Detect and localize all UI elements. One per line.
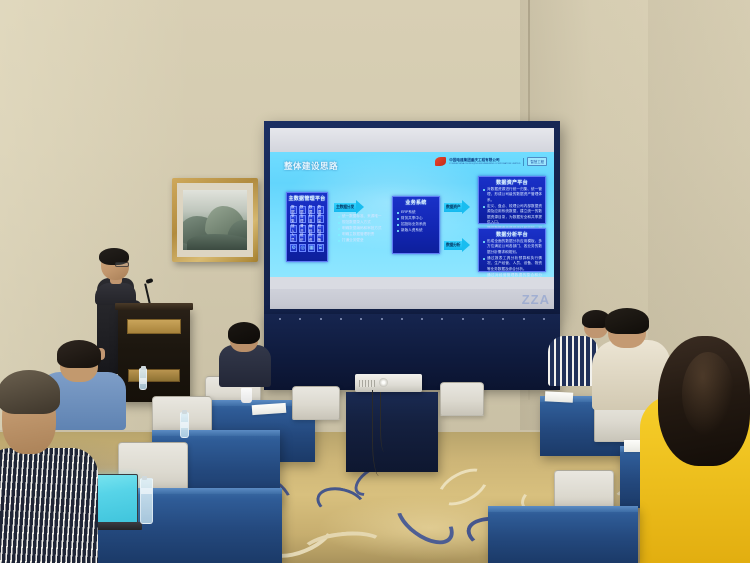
logo-company-name-en: POWERCHINA CHONGQING ENGINEERING CORPORA… <box>449 163 520 165</box>
database-icon: ⌸ <box>317 244 324 252</box>
audience-hair <box>605 308 649 334</box>
bottle-cap <box>182 410 187 414</box>
audience-torso <box>0 448 98 563</box>
logo-badge: 智慧工程 <box>527 157 547 166</box>
arrow-label: 主数据分发 <box>334 203 356 212</box>
business-systems-list: ERP系统 财务共享中心 招投标业务系统 新版人资系统 <box>393 207 439 233</box>
screen-watermark: ZZA <box>522 292 550 307</box>
bottle-cap <box>142 476 147 480</box>
framed-painting <box>172 178 258 262</box>
skirt-grommets <box>264 318 560 321</box>
gear-icon: ⚙ <box>290 244 297 252</box>
master-data-platform-box: 主数据管理平台 数据 数据 数据 数据 采集 治理 标准 质量 接入 清洗 编码… <box>286 192 328 262</box>
md-cell: 清洗 <box>299 225 306 233</box>
list-item: 打通业务壁垒 <box>338 238 385 243</box>
table-top <box>488 506 638 512</box>
arrow-head-icon <box>462 200 470 214</box>
md-cell: 数据 <box>317 206 324 214</box>
bottle-label <box>140 378 146 384</box>
list-item: 形成全面的数据分析应用模板，多方位满足公司各部门、各业务的数据分析需求和规划。 <box>483 239 542 255</box>
arrow-master-data-distribution: 主数据分发 <box>334 200 364 214</box>
requirements-list: 统一数据标准、来源唯一 规范数据录入方式 明确数据编码和审批方式 明确主数据管理… <box>334 214 388 244</box>
md-cell: 标准 <box>308 215 315 223</box>
table-top <box>152 430 280 436</box>
podium-top-surface <box>115 303 193 310</box>
grid-icon: ▦ <box>308 244 315 252</box>
business-systems-box: 业务系统 ERP系统 财务共享中心 招投标业务系统 新版人资系统 <box>392 196 440 254</box>
projector-cable-2 <box>380 392 390 452</box>
audience-hair <box>0 370 60 414</box>
water-bottle <box>139 368 147 390</box>
data-analysis-platform-list: 形成全面的数据分析应用模板，多方位满足公司各部门、各业务的数据分析需求和规划。 … <box>479 239 545 277</box>
podium-plaque-upper <box>127 319 181 334</box>
list-item: 通过对经营管理数据的整合和分析，为公司管理中心、业务部门提供准确、全面的数据分析… <box>483 273 542 277</box>
paper-cup <box>241 388 252 403</box>
podium-plaque-lower <box>128 369 180 382</box>
screen-surface: ZZA 整体建设思路 中国电建集团重庆工程有限公司 POWERCHINA CHO… <box>270 128 554 309</box>
list-item: 财务共享中心 <box>397 216 436 221</box>
conference-room-photo: ZZA 整体建设思路 中国电建集团重庆工程有限公司 POWERCHINA CHO… <box>0 0 750 563</box>
master-data-platform-title: 主数据管理平台 <box>287 193 327 203</box>
bottle-cap <box>141 366 146 370</box>
audience-hair <box>57 340 101 368</box>
paper-document <box>545 391 573 402</box>
md-cell: 数据 <box>308 206 315 214</box>
list-item: ERP系统 <box>397 210 436 215</box>
powerchina-logo-icon <box>435 157 446 166</box>
slide-title: 整体建设思路 <box>284 160 338 172</box>
projector-table <box>346 392 438 472</box>
list-item: 统一数据标准、来源唯一 <box>338 214 385 219</box>
logo-divider <box>523 158 524 166</box>
audience-hair <box>228 322 260 344</box>
data-asset-platform-box: 数据资产平台 对数据资源进行统一归集、统一管理，形成公司级的数据资产管理体系。 … <box>478 176 546 224</box>
list-item: 新版人资系统 <box>397 228 436 233</box>
list-item: 明确数据编码和审批方式 <box>338 226 385 231</box>
projector-lens-icon <box>379 378 388 387</box>
podium <box>118 307 190 402</box>
md-cell: 治理 <box>299 215 306 223</box>
data-analysis-platform-box: 数据分析平台 形成全面的数据分析应用模板，多方位满足公司各部门、各业务的数据分析… <box>478 228 546 272</box>
master-data-cell-grid: 数据 数据 数据 数据 采集 治理 标准 质量 接入 清洗 编码 校验 人员 组… <box>287 203 327 255</box>
list-item: 规范数据录入方式 <box>338 220 385 225</box>
md-cell: 设备 <box>317 234 324 242</box>
glasses-icon <box>115 262 129 267</box>
md-cell: 数据 <box>290 206 297 214</box>
md-cell: 数据 <box>299 206 306 214</box>
md-cell: 编码 <box>308 225 315 233</box>
md-cell: 校验 <box>317 225 324 233</box>
arrow-label: 数据资产 <box>444 203 462 212</box>
md-cell: 物资 <box>308 234 315 242</box>
list-item: 定义、盘点、梳理公司内部数据资源及应用系统数据，建立统一的数据资源目录，为数据安… <box>483 204 542 226</box>
screen-blank-top <box>270 128 554 152</box>
arrow-head-icon <box>462 238 470 252</box>
painting-mat <box>177 183 253 257</box>
md-cell: 质量 <box>317 215 324 223</box>
bottle-label <box>181 422 188 428</box>
list-item: 对数据资源进行统一归集、统一管理，形成公司级的数据资产管理体系。 <box>483 187 542 203</box>
projector-vent <box>359 380 375 387</box>
list-item: 招投标业务系统 <box>397 222 436 227</box>
presentation-slide: 整体建设思路 中国电建集团重庆工程有限公司 POWERCHINA CHONGQI… <box>270 152 554 277</box>
arrow-head-icon <box>356 200 364 214</box>
business-systems-title: 业务系统 <box>393 197 439 207</box>
chair <box>292 386 340 420</box>
chair <box>440 382 484 416</box>
md-cell: 人员 <box>290 234 297 242</box>
company-logo: 中国电建集团重庆工程有限公司 POWERCHINA CHONGQING ENGI… <box>435 157 547 166</box>
target-icon: ◎ <box>299 244 306 252</box>
chinese-landscape-art <box>183 190 247 250</box>
audience-torso <box>548 336 598 386</box>
data-analysis-platform-title: 数据分析平台 <box>479 229 545 239</box>
projection-screen: ZZA 整体建设思路 中国电建集团重庆工程有限公司 POWERCHINA CHO… <box>264 121 560 314</box>
arrow-data-asset: 数据资产 <box>444 200 470 214</box>
list-item: 通过报表工具分析预算和执行情况、生产经营、人员、设备、物资等业务数据及综合分析。 <box>483 256 542 272</box>
water-bottle <box>180 412 189 438</box>
arrow-data-analysis: 数据分析 <box>444 238 470 252</box>
water-bottle <box>140 478 153 524</box>
bottle-label <box>141 488 152 494</box>
list-item: 明确主数据管理职责 <box>338 232 385 237</box>
arrow-label: 数据分析 <box>444 241 462 250</box>
screen-blank-bottom: ZZA <box>270 289 554 309</box>
conference-table <box>488 506 638 563</box>
data-asset-platform-title: 数据资产平台 <box>479 177 545 187</box>
audience-hair-highlight <box>682 352 734 436</box>
md-cell: 接入 <box>290 225 297 233</box>
md-cell: 组织 <box>299 234 306 242</box>
md-cell: 采集 <box>290 215 297 223</box>
